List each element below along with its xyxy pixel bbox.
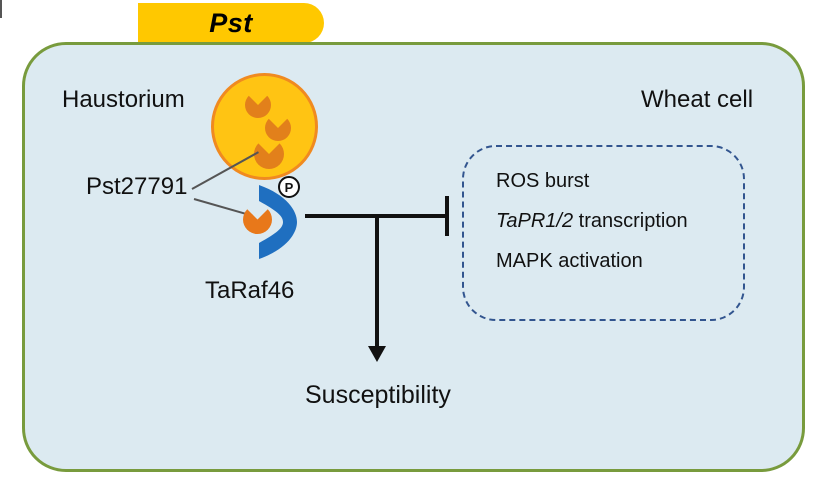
figure-canvas: Pst Haustorium Wheat cell Pst27791 TaRaf… [0,0,822,498]
receptor-label: TaRaf46 [205,277,294,305]
response-text: ROS burst [496,170,589,192]
response-text: MAPK activation [496,250,643,272]
immune-response-list: ROS burst TaPR1/2 transcription MAPK act… [496,170,746,290]
response-suffix: transcription [573,210,688,232]
pst-banner-label: Pst [209,10,253,37]
list-item: ROS burst [496,170,746,193]
gene-name: TaPR1/2 [496,210,573,232]
list-item: MAPK activation [496,250,746,273]
inhibition-tbar-icon [445,196,449,236]
receptor-kinase-icon [253,183,305,261]
haustorium-label: Haustorium [62,86,185,114]
wheat-cell-label: Wheat cell [641,86,753,114]
list-item: TaPR1/2 transcription [496,210,746,233]
activation-edge-line [375,214,379,350]
pst-banner: Pst [138,3,324,43]
effector-label: Pst27791 [86,173,187,201]
arrowhead-icon [368,346,386,362]
phosphorylation-icon: P [278,176,300,198]
susceptibility-label: Susceptibility [305,381,451,410]
leader-line-receptor [0,0,2,18]
